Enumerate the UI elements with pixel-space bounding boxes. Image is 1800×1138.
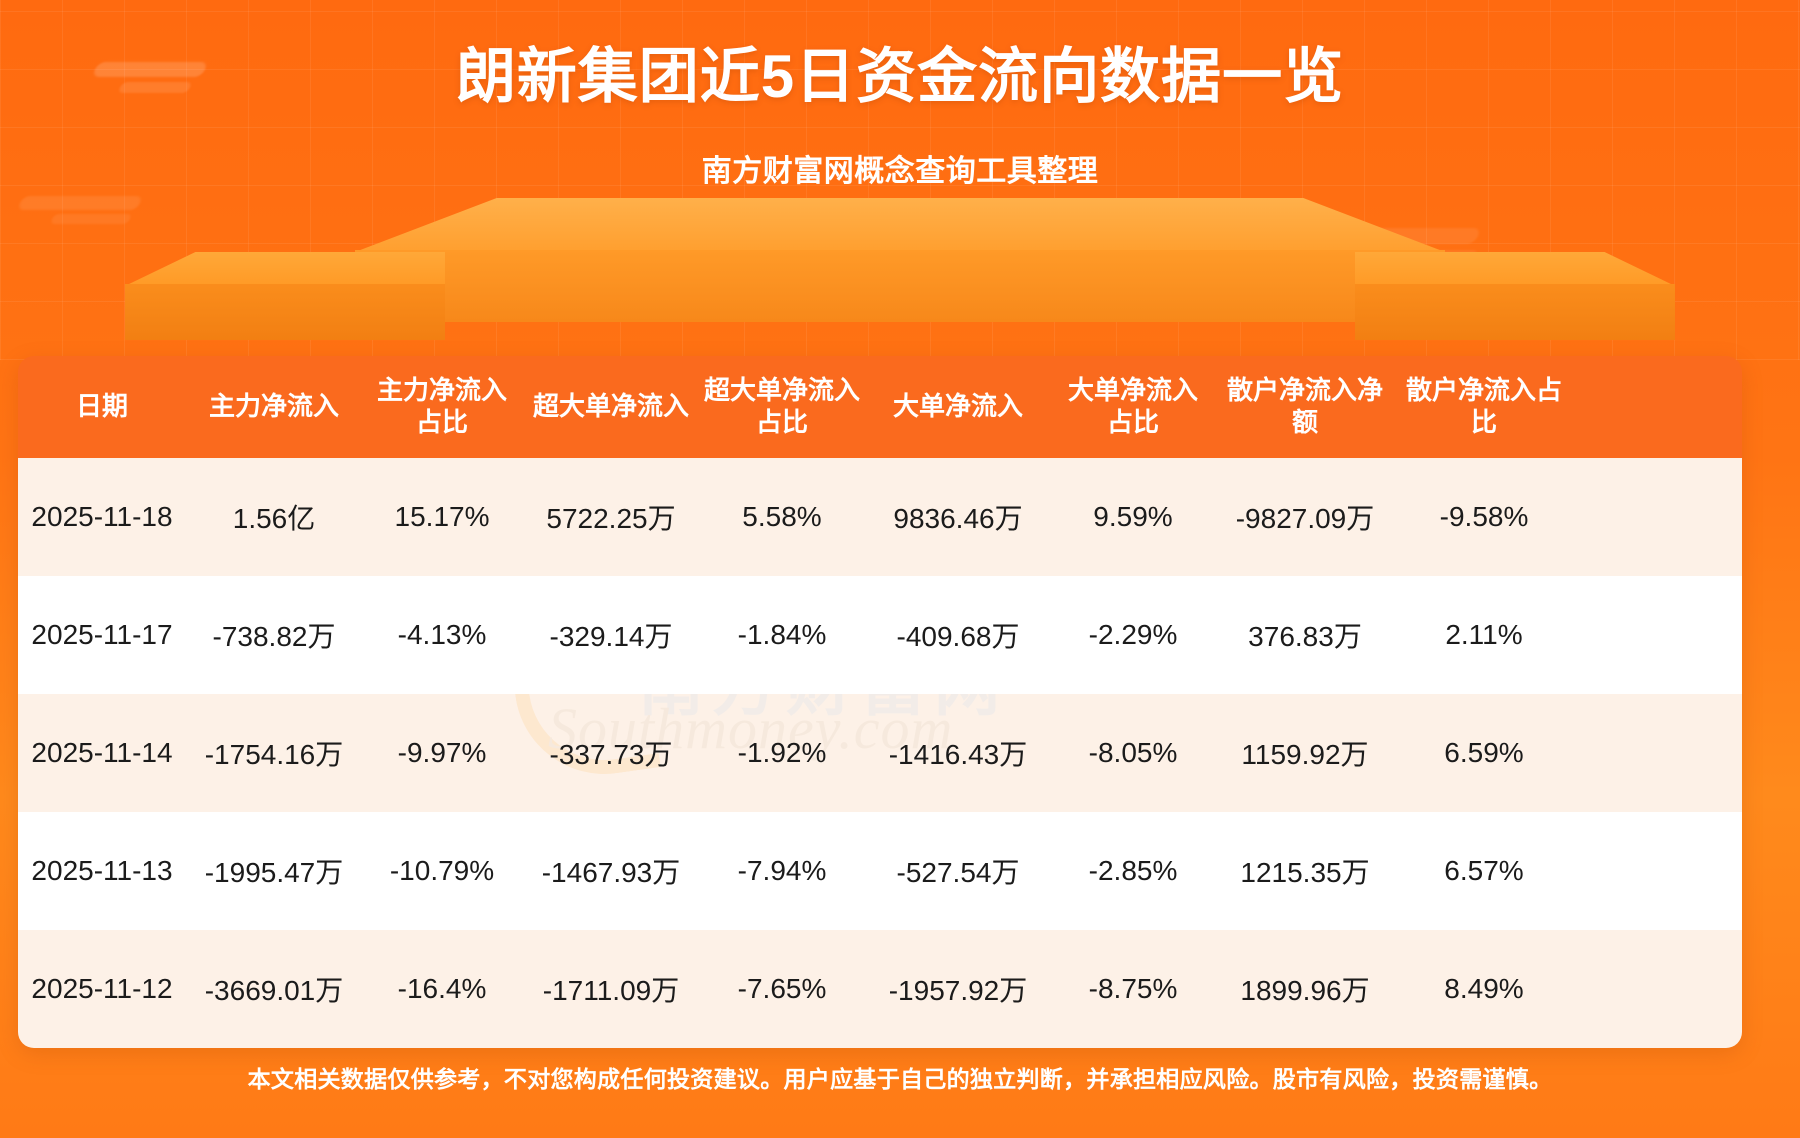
cell-retail-net: 1899.96万 bbox=[1214, 969, 1396, 1009]
cell-date: 2025-11-18 bbox=[18, 501, 186, 533]
cell-xl-net: -1467.93万 bbox=[522, 851, 700, 891]
disclaimer-text: 本文相关数据仅供参考，不对您构成任何投资建议。用户应基于自己的独立判断，并承担相… bbox=[0, 1060, 1800, 1094]
table-row: 2025-11-17 -738.82万 -4.13% -329.14万 -1.8… bbox=[18, 576, 1742, 694]
column-header-extra-large-pct: 超大单净流入占比 bbox=[700, 375, 864, 438]
cell-main-net: -738.82万 bbox=[186, 615, 362, 655]
page-title: 朗新集团近5日资金流向数据一览 bbox=[0, 42, 1800, 111]
cell-xl-pct: -1.84% bbox=[700, 619, 864, 651]
cell-xl-pct: 5.58% bbox=[700, 501, 864, 533]
cell-lg-net: 9836.46万 bbox=[864, 497, 1052, 537]
cell-main-pct: 15.17% bbox=[362, 501, 522, 533]
cell-date: 2025-11-17 bbox=[18, 619, 186, 651]
table-row: 2025-11-12 -3669.01万 -16.4% -1711.09万 -7… bbox=[18, 930, 1742, 1048]
podium-illustration bbox=[0, 190, 1800, 370]
table-row: 2025-11-14 -1754.16万 -9.97% -337.73万 -1.… bbox=[18, 694, 1742, 812]
cell-main-pct: -9.97% bbox=[362, 737, 522, 769]
column-header-large-net: 大单净流入 bbox=[864, 391, 1052, 423]
cell-lg-net: -527.54万 bbox=[864, 851, 1052, 891]
podium-left-face bbox=[125, 284, 445, 340]
cell-xl-pct: -7.94% bbox=[700, 855, 864, 887]
cell-lg-pct: -8.05% bbox=[1052, 737, 1214, 769]
cell-main-pct: -10.79% bbox=[362, 855, 522, 887]
cell-xl-net: 5722.25万 bbox=[522, 497, 700, 537]
page-subtitle: 南方财富网概念查询工具整理 bbox=[0, 146, 1800, 190]
cell-main-net: -3669.01万 bbox=[186, 969, 362, 1009]
column-header-large-pct: 大单净流入占比 bbox=[1052, 375, 1214, 438]
cell-main-net: 1.56亿 bbox=[186, 497, 362, 537]
cell-retail-net: 1159.92万 bbox=[1214, 733, 1396, 773]
podium-right-face bbox=[1355, 284, 1675, 340]
cell-main-net: -1754.16万 bbox=[186, 733, 362, 773]
column-header-retail-pct: 散户净流入占比 bbox=[1396, 375, 1572, 438]
cell-main-pct: -16.4% bbox=[362, 973, 522, 1005]
cell-retail-net: 376.83万 bbox=[1214, 615, 1396, 655]
table-body: 南方财富网 Southmoney.com 2025-11-18 1.56亿 15… bbox=[18, 458, 1742, 1048]
column-header-date: 日期 bbox=[18, 391, 186, 423]
column-header-extra-large-net: 超大单净流入 bbox=[522, 391, 700, 423]
cell-lg-net: -409.68万 bbox=[864, 615, 1052, 655]
cell-date: 2025-11-13 bbox=[18, 855, 186, 887]
cell-retail-pct: 6.57% bbox=[1396, 855, 1572, 887]
podium-left-top bbox=[125, 252, 445, 286]
table-row: 2025-11-18 1.56亿 15.17% 5722.25万 5.58% 9… bbox=[18, 458, 1742, 576]
cell-lg-pct: -2.29% bbox=[1052, 619, 1214, 651]
column-header-retail-net: 散户净流入净额 bbox=[1214, 375, 1396, 438]
cell-retail-pct: 2.11% bbox=[1396, 619, 1572, 651]
column-header-main-pct: 主力净流入占比 bbox=[362, 375, 522, 438]
podium-right-top bbox=[1355, 252, 1675, 286]
cell-retail-pct: -9.58% bbox=[1396, 501, 1572, 533]
cell-retail-net: 1215.35万 bbox=[1214, 851, 1396, 891]
cell-xl-net: -1711.09万 bbox=[522, 969, 700, 1009]
podium-center-top bbox=[355, 198, 1445, 252]
cell-xl-pct: -1.92% bbox=[700, 737, 864, 769]
cell-date: 2025-11-12 bbox=[18, 973, 186, 1005]
cell-retail-pct: 6.59% bbox=[1396, 737, 1572, 769]
cell-date: 2025-11-14 bbox=[18, 737, 186, 769]
cell-xl-net: -329.14万 bbox=[522, 615, 700, 655]
table-row: 2025-11-13 -1995.47万 -10.79% -1467.93万 -… bbox=[18, 812, 1742, 930]
column-header-main-net: 主力净流入 bbox=[186, 391, 362, 423]
cell-xl-pct: -7.65% bbox=[700, 973, 864, 1005]
cell-lg-net: -1957.92万 bbox=[864, 969, 1052, 1009]
podium-center-face bbox=[355, 250, 1445, 322]
cell-main-pct: -4.13% bbox=[362, 619, 522, 651]
infographic-page: 朗新集团近5日资金流向数据一览 南方财富网概念查询工具整理 日期 主力净流入 主… bbox=[0, 0, 1800, 1138]
cell-lg-pct: 9.59% bbox=[1052, 501, 1214, 533]
cell-lg-net: -1416.43万 bbox=[864, 733, 1052, 773]
cell-lg-pct: -8.75% bbox=[1052, 973, 1214, 1005]
cell-lg-pct: -2.85% bbox=[1052, 855, 1214, 887]
cell-retail-net: -9827.09万 bbox=[1214, 497, 1396, 537]
table-header-row: 日期 主力净流入 主力净流入占比 超大单净流入 超大单净流入占比 大单净流入 大… bbox=[18, 356, 1742, 458]
cell-xl-net: -337.73万 bbox=[522, 733, 700, 773]
cell-main-net: -1995.47万 bbox=[186, 851, 362, 891]
data-table-card: 日期 主力净流入 主力净流入占比 超大单净流入 超大单净流入占比 大单净流入 大… bbox=[18, 356, 1742, 1048]
cell-retail-pct: 8.49% bbox=[1396, 973, 1572, 1005]
